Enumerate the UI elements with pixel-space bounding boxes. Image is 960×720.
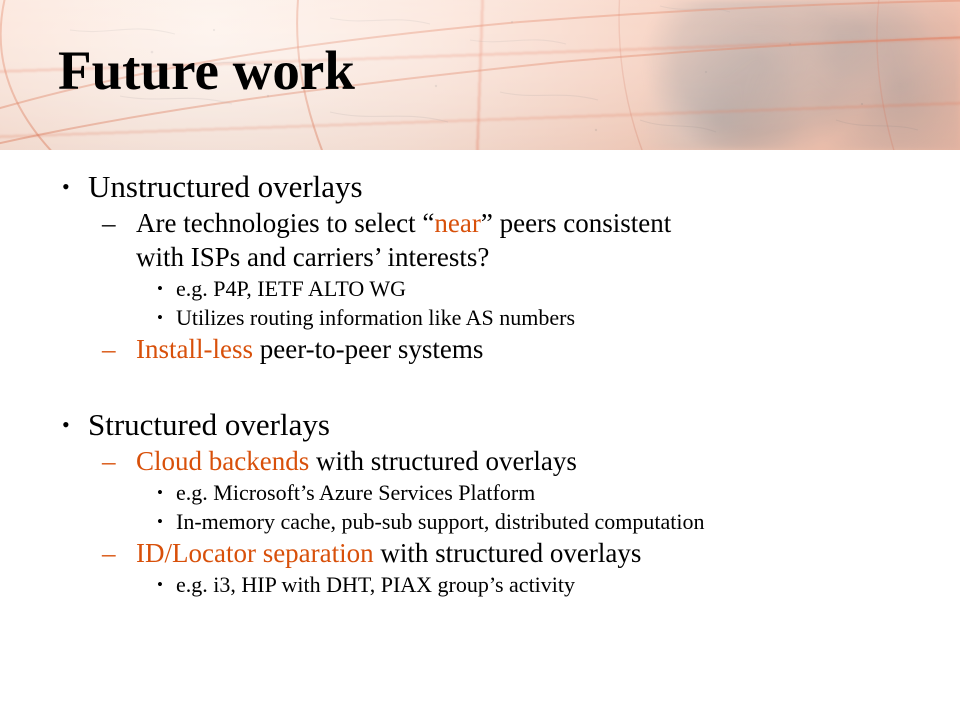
bullet-text-run: with structured overlays [309, 446, 577, 476]
bullet-text-run: e.g. i3, HIP with DHT, PIAX group’s acti… [176, 572, 575, 597]
bullet-line-l1: •Structured overlays [0, 406, 960, 444]
bullet-marker-icon: • [157, 507, 163, 536]
bullet-marker-icon: • [62, 168, 70, 206]
title-band: Future work [0, 0, 960, 150]
bullet-text-run: with structured overlays [374, 538, 642, 568]
bullet-text-run: Unstructured overlays [88, 169, 363, 204]
bullet-text-run: e.g. P4P, IETF ALTO WG [176, 276, 406, 301]
bullet-marker-icon: • [157, 478, 163, 507]
bullet-line-l2: with ISPs and carriers’ interests? [0, 240, 960, 274]
dash-marker-icon: – [102, 444, 116, 478]
dash-marker-icon: – [102, 332, 116, 366]
bullet-line-l2: –ID/Locator separation with structured o… [0, 536, 960, 570]
bullet-line-l2: –Install-less peer-to-peer systems [0, 332, 960, 366]
slide-body: •Unstructured overlays–Are technologies … [0, 150, 960, 720]
page-title: Future work [58, 40, 355, 102]
bullet-text-run: Utilizes routing information like AS num… [176, 305, 575, 330]
bullet-marker-icon: • [157, 303, 163, 332]
bullet-text-run: Cloud backends [136, 446, 309, 476]
bullet-line-l2: –Are technologies to select “near” peers… [0, 206, 960, 240]
bullet-text-run: ID/Locator separation [136, 538, 374, 568]
bullet-line-l3: •In-memory cache, pub-sub support, distr… [0, 507, 960, 536]
bullet-text-run: In-memory cache, pub-sub support, distri… [176, 509, 705, 534]
bullet-line-l3: •e.g. Microsoft’s Azure Services Platfor… [0, 478, 960, 507]
bullet-text-run: Are technologies to select “ [136, 208, 434, 238]
bullet-line-l1: •Unstructured overlays [0, 168, 960, 206]
bullet-text-run: ” peers consistent [481, 208, 671, 238]
bullet-line-l3: •e.g. i3, HIP with DHT, PIAX group’s act… [0, 570, 960, 599]
bullet-line-l3: •e.g. P4P, IETF ALTO WG [0, 274, 960, 303]
bullet-marker-icon: • [157, 274, 163, 303]
bullet-marker-icon: • [157, 570, 163, 599]
dash-marker-icon: – [102, 206, 116, 240]
bullet-marker-icon: • [62, 406, 70, 444]
bullet-text-run: with ISPs and carriers’ interests? [136, 242, 489, 272]
bullet-text-run: e.g. Microsoft’s Azure Services Platform [176, 480, 535, 505]
slide: Future work •Unstructured overlays–Are t… [0, 0, 960, 720]
bullet-text-run: Structured overlays [88, 407, 330, 442]
bullet-text-run: peer-to-peer systems [253, 334, 483, 364]
bullet-text-run: near [434, 208, 480, 238]
bullet-line-l3: •Utilizes routing information like AS nu… [0, 303, 960, 332]
bullet-text-run: Install-less [136, 334, 253, 364]
bullet-line-l2: –Cloud backends with structured overlays [0, 444, 960, 478]
dash-marker-icon: – [102, 536, 116, 570]
